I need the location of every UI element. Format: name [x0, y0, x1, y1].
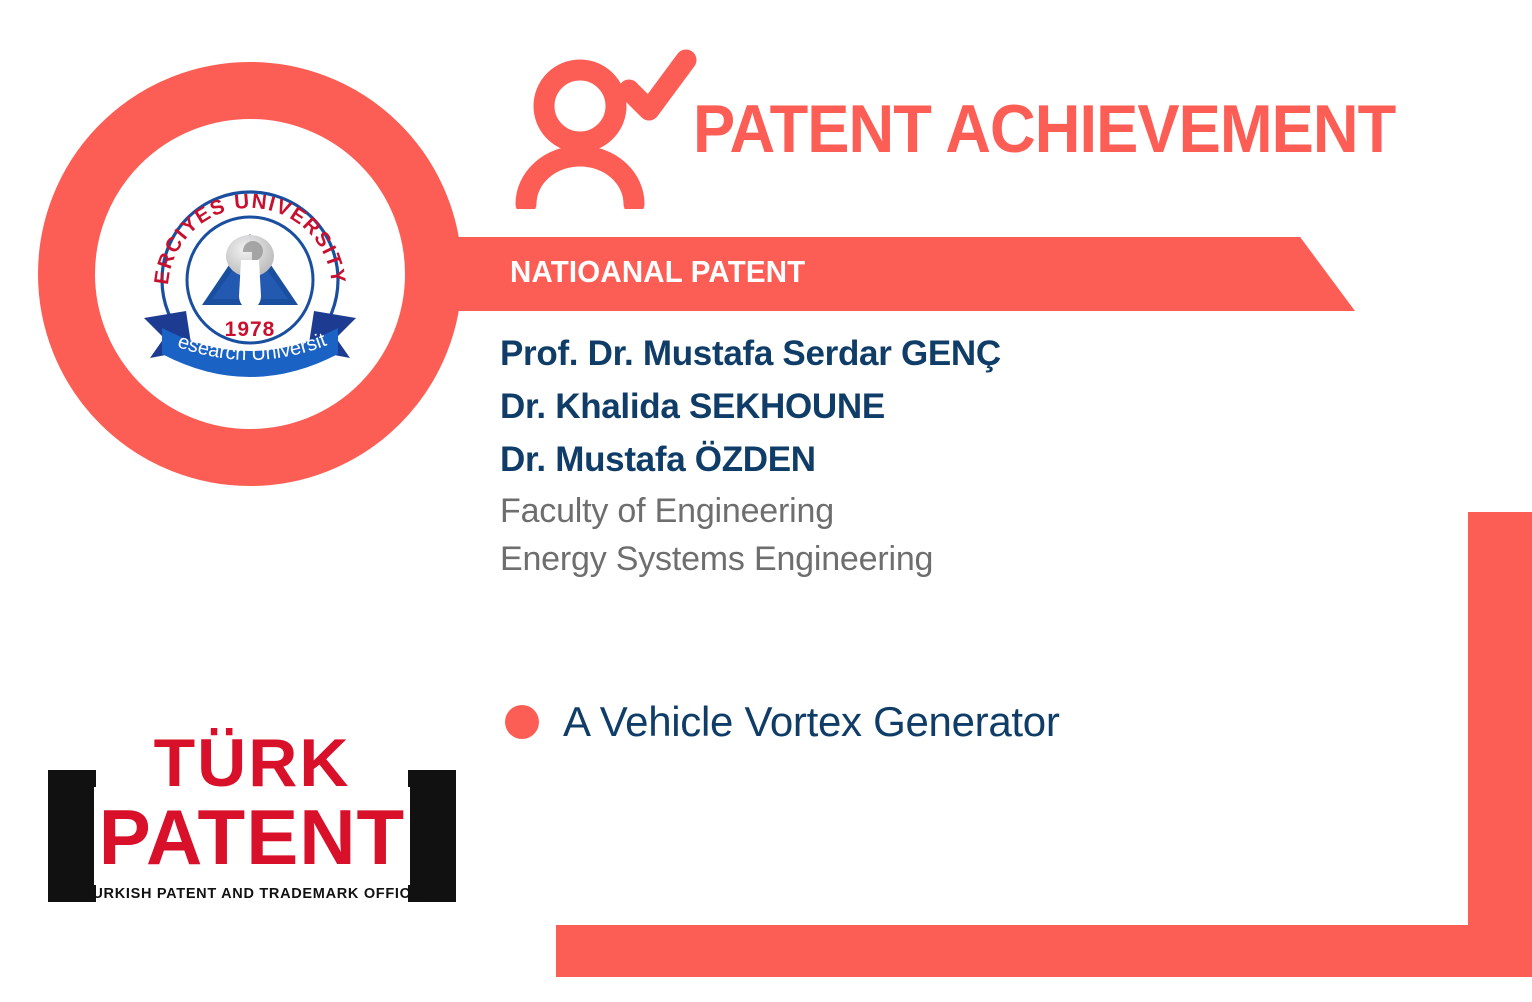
- decorative-corner-vertical-bar: [1468, 512, 1532, 977]
- patent-title: A Vehicle Vortex Generator: [563, 698, 1060, 746]
- inventor-name: Dr. Mustafa ÖZDEN: [500, 433, 1260, 486]
- patent-type-label: NATIOANAL PATENT: [510, 254, 805, 290]
- turk-patent-logo: TÜRK PATENT TURKISH PATENT AND TRADEMARK…: [38, 722, 466, 912]
- logo-line1: TÜRK: [154, 725, 351, 801]
- inventor-name: Prof. Dr. Mustafa Serdar GENÇ: [500, 327, 1260, 380]
- inventor-name: Dr. Khalida SEKHOUNE: [500, 380, 1260, 433]
- bullet-icon: [505, 705, 539, 739]
- patent-list-item: A Vehicle Vortex Generator: [505, 698, 1060, 746]
- decorative-corner-horizontal-bar: [556, 925, 1532, 977]
- patent-type-banner: NATIOANAL PATENT: [440, 237, 1355, 311]
- logo-subtitle: TURKISH PATENT AND TRADEMARK OFFICE: [83, 886, 421, 902]
- affiliation-department: Energy Systems Engineering: [500, 535, 1260, 583]
- inventor-block: Prof. Dr. Mustafa Serdar GENÇ Dr. Khalid…: [500, 327, 1260, 583]
- svg-text:1978: 1978: [225, 318, 276, 341]
- person-check-icon: [508, 44, 698, 209]
- erciyes-university-logo: ERCIYES UNIVERSITY 1978 Research Univers…: [140, 168, 360, 386]
- page-title: PATENT ACHIEVEMENT: [693, 95, 1395, 163]
- affiliation-faculty: Faculty of Engineering: [500, 487, 1260, 535]
- logo-line2: PATENT: [99, 793, 405, 881]
